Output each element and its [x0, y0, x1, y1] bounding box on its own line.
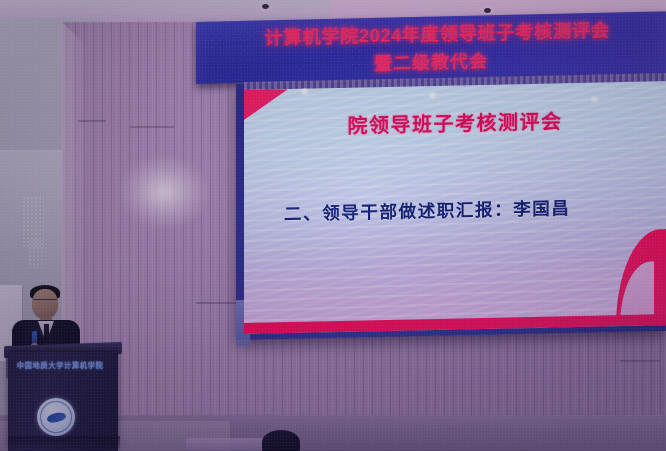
- emblem-mark: [46, 411, 66, 424]
- conference-photo-scene: 计算机学院2024年度领导班子考核测评会 暨二级教代会 院领导班子考核测评会 二…: [0, 0, 666, 451]
- ceiling-downlight-icon: [484, 8, 491, 13]
- slide-body-text: 二、领导干部做述职汇报：李国昌: [284, 192, 666, 226]
- screen-highlight: [590, 96, 599, 103]
- lectern-nameplate-text: 中国地质大学计算机学院: [17, 360, 104, 371]
- ceiling-downlight-icon: [262, 4, 269, 9]
- slide-title: 院领导班子考核测评会: [244, 103, 666, 141]
- wall-panel-seam: [130, 126, 174, 128]
- university-emblem-icon: [37, 398, 75, 436]
- wall-panel-seam: [620, 360, 660, 362]
- banner-title-line-2: 暨二级教代会: [374, 47, 488, 76]
- screen-highlight: [300, 88, 309, 95]
- audience-head: [262, 430, 300, 451]
- banner-title-line-1: 计算机学院2024年度领导班子考核测评会: [264, 17, 609, 51]
- wall-panel-seam: [78, 120, 106, 122]
- lectern-shadow: [8, 436, 120, 451]
- screen-highlight: [428, 92, 437, 99]
- presenter-head: [32, 289, 58, 319]
- lectern-nameplate: 中国地质大学计算机学院: [12, 357, 108, 373]
- emblem-ring: [40, 401, 72, 433]
- wall-panel-seam: [196, 302, 236, 304]
- presenter-tie: [44, 324, 49, 340]
- presentation-slide: 院领导班子考核测评会 二、领导干部做述职汇报：李国昌: [244, 81, 666, 334]
- wall-light-reflection: [118, 155, 210, 229]
- left-wall-perforation: [28, 238, 46, 268]
- glasses-icon: [33, 299, 57, 304]
- banner-text-block: 计算机学院2024年度领导班子考核测评会 暨二级教代会: [196, 11, 666, 84]
- slide-right-accent: [616, 229, 666, 326]
- event-banner: 计算机学院2024年度领导班子考核测评会 暨二级教代会: [196, 11, 666, 84]
